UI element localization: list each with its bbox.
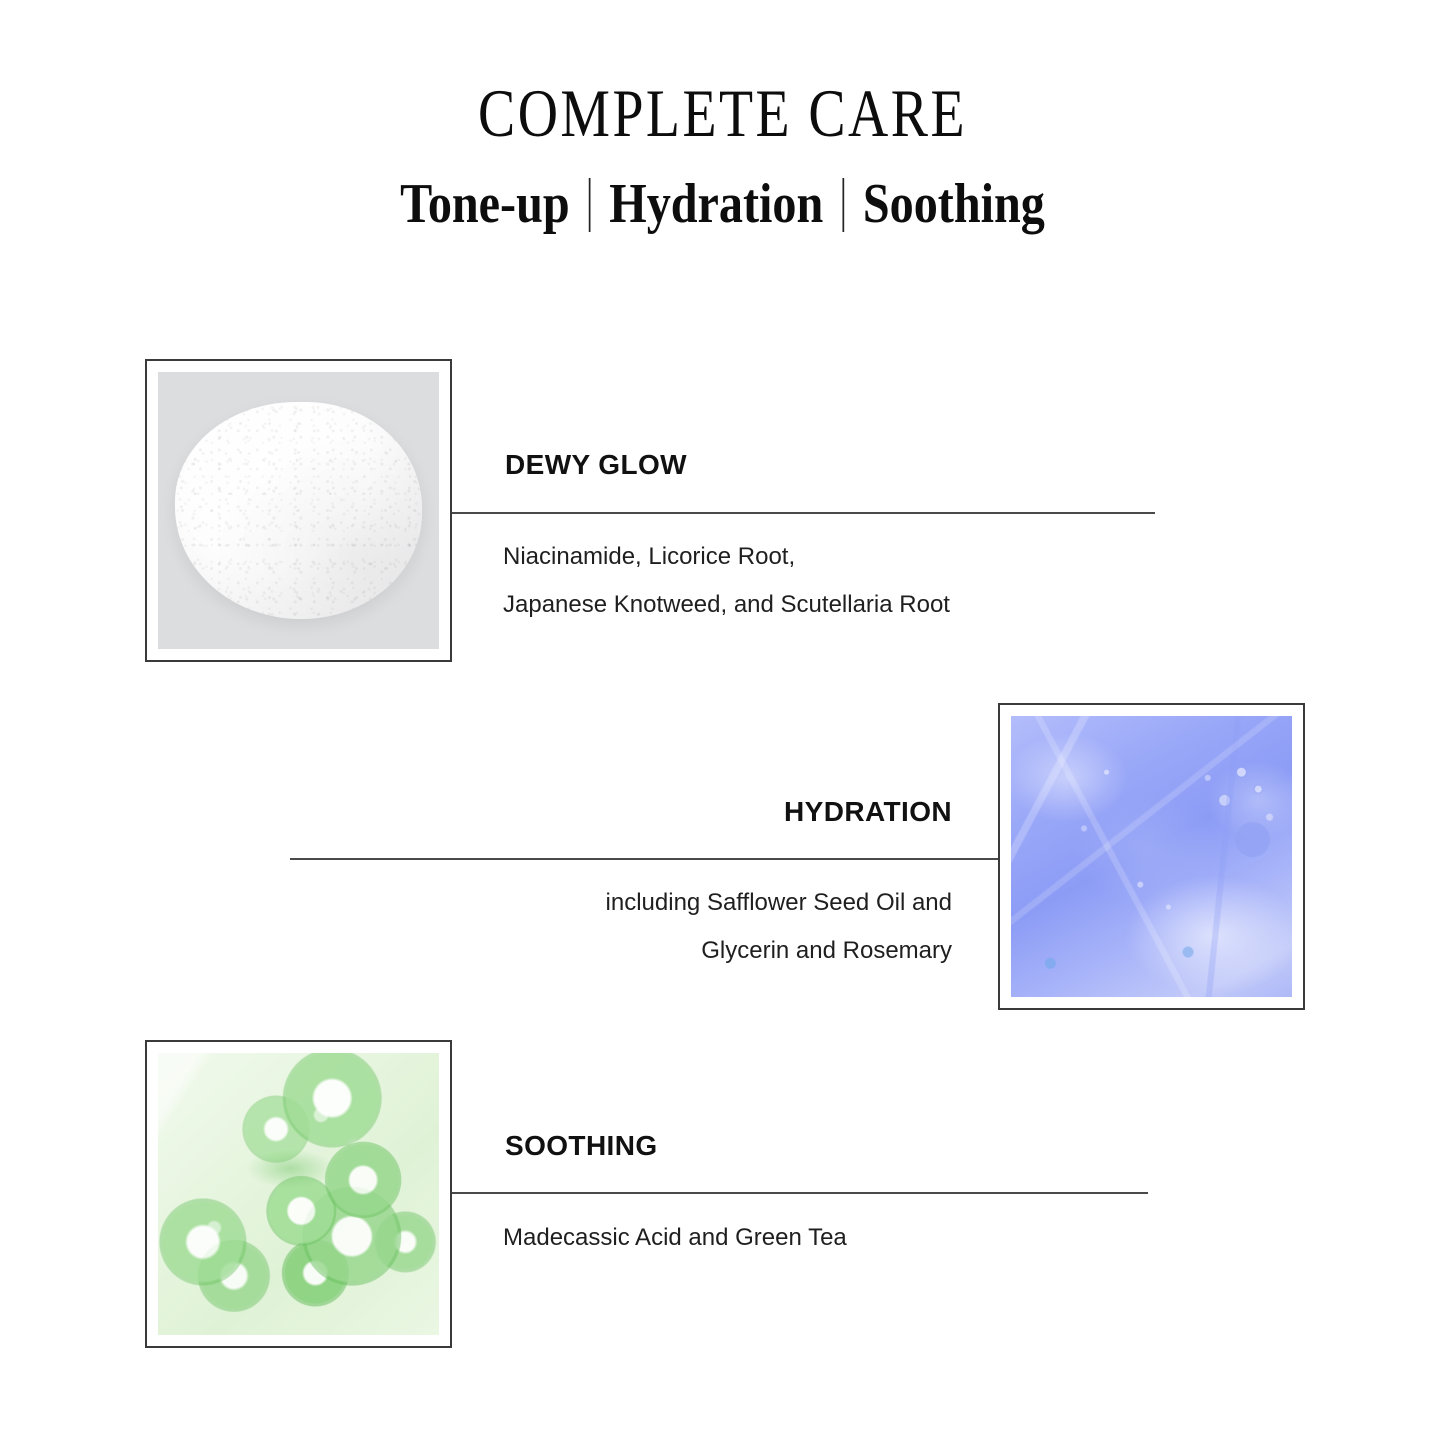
image-inner-soothing	[158, 1053, 439, 1335]
blue-liquid-image	[1011, 716, 1292, 997]
image-frame-soothing	[145, 1040, 452, 1348]
subtitle-word-soothing: Soothing	[844, 171, 1064, 238]
image-inner-hydration	[1011, 716, 1292, 997]
feature-desc-line-dewy-glow-2: Japanese Knotweed, and Scutellaria Root	[503, 586, 950, 624]
header: COMPLETE CARE Tone-up Hydration Soothing	[0, 0, 1445, 239]
feature-desc-line-soothing-1: Madecassic Acid and Green Tea	[503, 1219, 847, 1257]
white-powder-image	[158, 372, 439, 649]
feature-desc-line-dewy-glow-1: Niacinamide, Licorice Root,	[503, 538, 795, 576]
feature-divider-soothing	[452, 1192, 1148, 1194]
feature-heading-dewy-glow: DEWY GLOW	[505, 450, 687, 481]
subtitle-word-hydration: Hydration	[590, 171, 842, 238]
image-frame-dewy-glow	[145, 359, 452, 662]
image-inner-dewy-glow	[158, 372, 439, 649]
green-bubbles-image	[158, 1053, 439, 1335]
feature-heading-hydration: HYDRATION	[450, 797, 952, 828]
page-title: COMPLETE CARE	[130, 0, 1315, 149]
subtitle-word-tone-up: Tone-up	[381, 171, 588, 238]
subtitle-separator-icon	[589, 178, 591, 232]
feature-heading-soothing: SOOTHING	[505, 1131, 658, 1162]
subtitle-separator-icon	[842, 178, 844, 232]
subtitle-row: Tone-up Hydration Soothing	[101, 171, 1344, 238]
feature-desc-line-hydration-1: including Safflower Seed Oil and	[450, 884, 952, 922]
image-frame-hydration	[998, 703, 1305, 1010]
feature-divider-hydration	[290, 858, 998, 860]
feature-divider-dewy-glow	[452, 512, 1155, 514]
feature-desc-line-hydration-2: Glycerin and Rosemary	[450, 932, 952, 970]
